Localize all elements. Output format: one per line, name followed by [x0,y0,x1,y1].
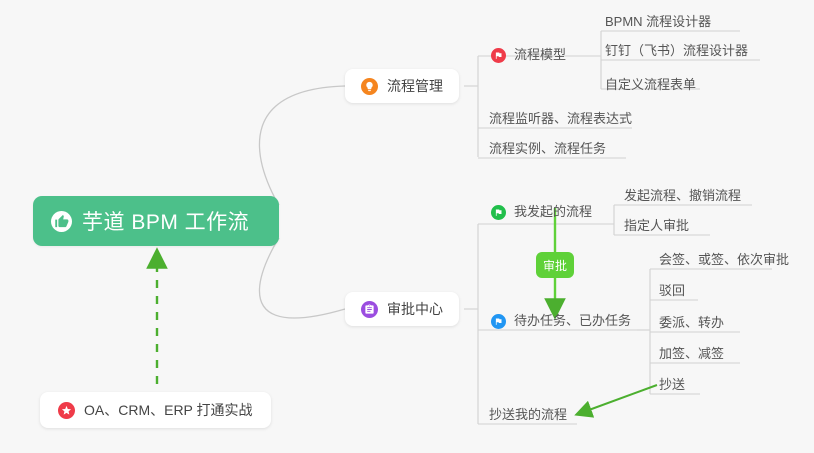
thumbs-up-icon [51,211,72,232]
branch-label: 流程管理 [387,76,443,96]
leaf-bpmn-designer[interactable]: BPMN 流程设计器 [605,13,711,31]
root-label: 芋道 BPM 工作流 [82,206,249,236]
cc-link-arrow [578,385,657,414]
leaf-dingtalk-feishu-designer[interactable]: 钉钉（飞书）流程设计器 [605,42,748,60]
clipboard-icon [361,301,378,318]
leaf-assignee-approval[interactable]: 指定人审批 [624,217,689,235]
leaf-label: 待办任务、已办任务 [514,312,631,330]
leaf-cc-to-me[interactable]: 抄送我的流程 [489,406,567,424]
leaf-custom-process-form[interactable]: 自定义流程表单 [605,76,696,94]
leaf-process-model[interactable]: 流程模型 [491,46,566,64]
footer-note-label: OA、CRM、ERP 打通实战 [84,400,253,420]
flag-icon [491,205,506,220]
leaf-cc[interactable]: 抄送 [659,376,685,394]
branch-node-approval-center[interactable]: 审批中心 [345,292,459,326]
leaf-add-remove-sign[interactable]: 加签、减签 [659,345,724,363]
approval-tag[interactable]: 审批 [536,252,574,278]
lightbulb-icon [361,78,378,95]
leaf-todo-done[interactable]: 待办任务、已办任务 [491,312,631,330]
leaf-my-initiated[interactable]: 我发起的流程 [491,203,592,221]
branch-label: 审批中心 [387,299,443,319]
leaf-countersign[interactable]: 会签、或签、依次审批 [659,251,789,269]
flag-icon [491,314,506,329]
footer-note-node[interactable]: OA、CRM、ERP 打通实战 [40,392,271,428]
branch-node-process-management[interactable]: 流程管理 [345,69,459,103]
leaf-listener-expression[interactable]: 流程监听器、流程表达式 [489,110,632,128]
star-icon [58,402,75,419]
leaf-instance-task[interactable]: 流程实例、流程任务 [489,140,606,158]
mindmap-canvas: 芋道 BPM 工作流 流程管理 审批中心 OA、CRM、ERP 打通实战 [0,0,814,453]
leaf-start-cancel[interactable]: 发起流程、撤销流程 [624,187,741,205]
leaf-reject[interactable]: 驳回 [659,282,685,300]
leaf-label: 流程模型 [514,46,566,64]
root-node[interactable]: 芋道 BPM 工作流 [33,196,279,246]
leaf-delegate-transfer[interactable]: 委派、转办 [659,314,724,332]
leaf-label: 我发起的流程 [514,203,592,221]
flag-icon [491,48,506,63]
